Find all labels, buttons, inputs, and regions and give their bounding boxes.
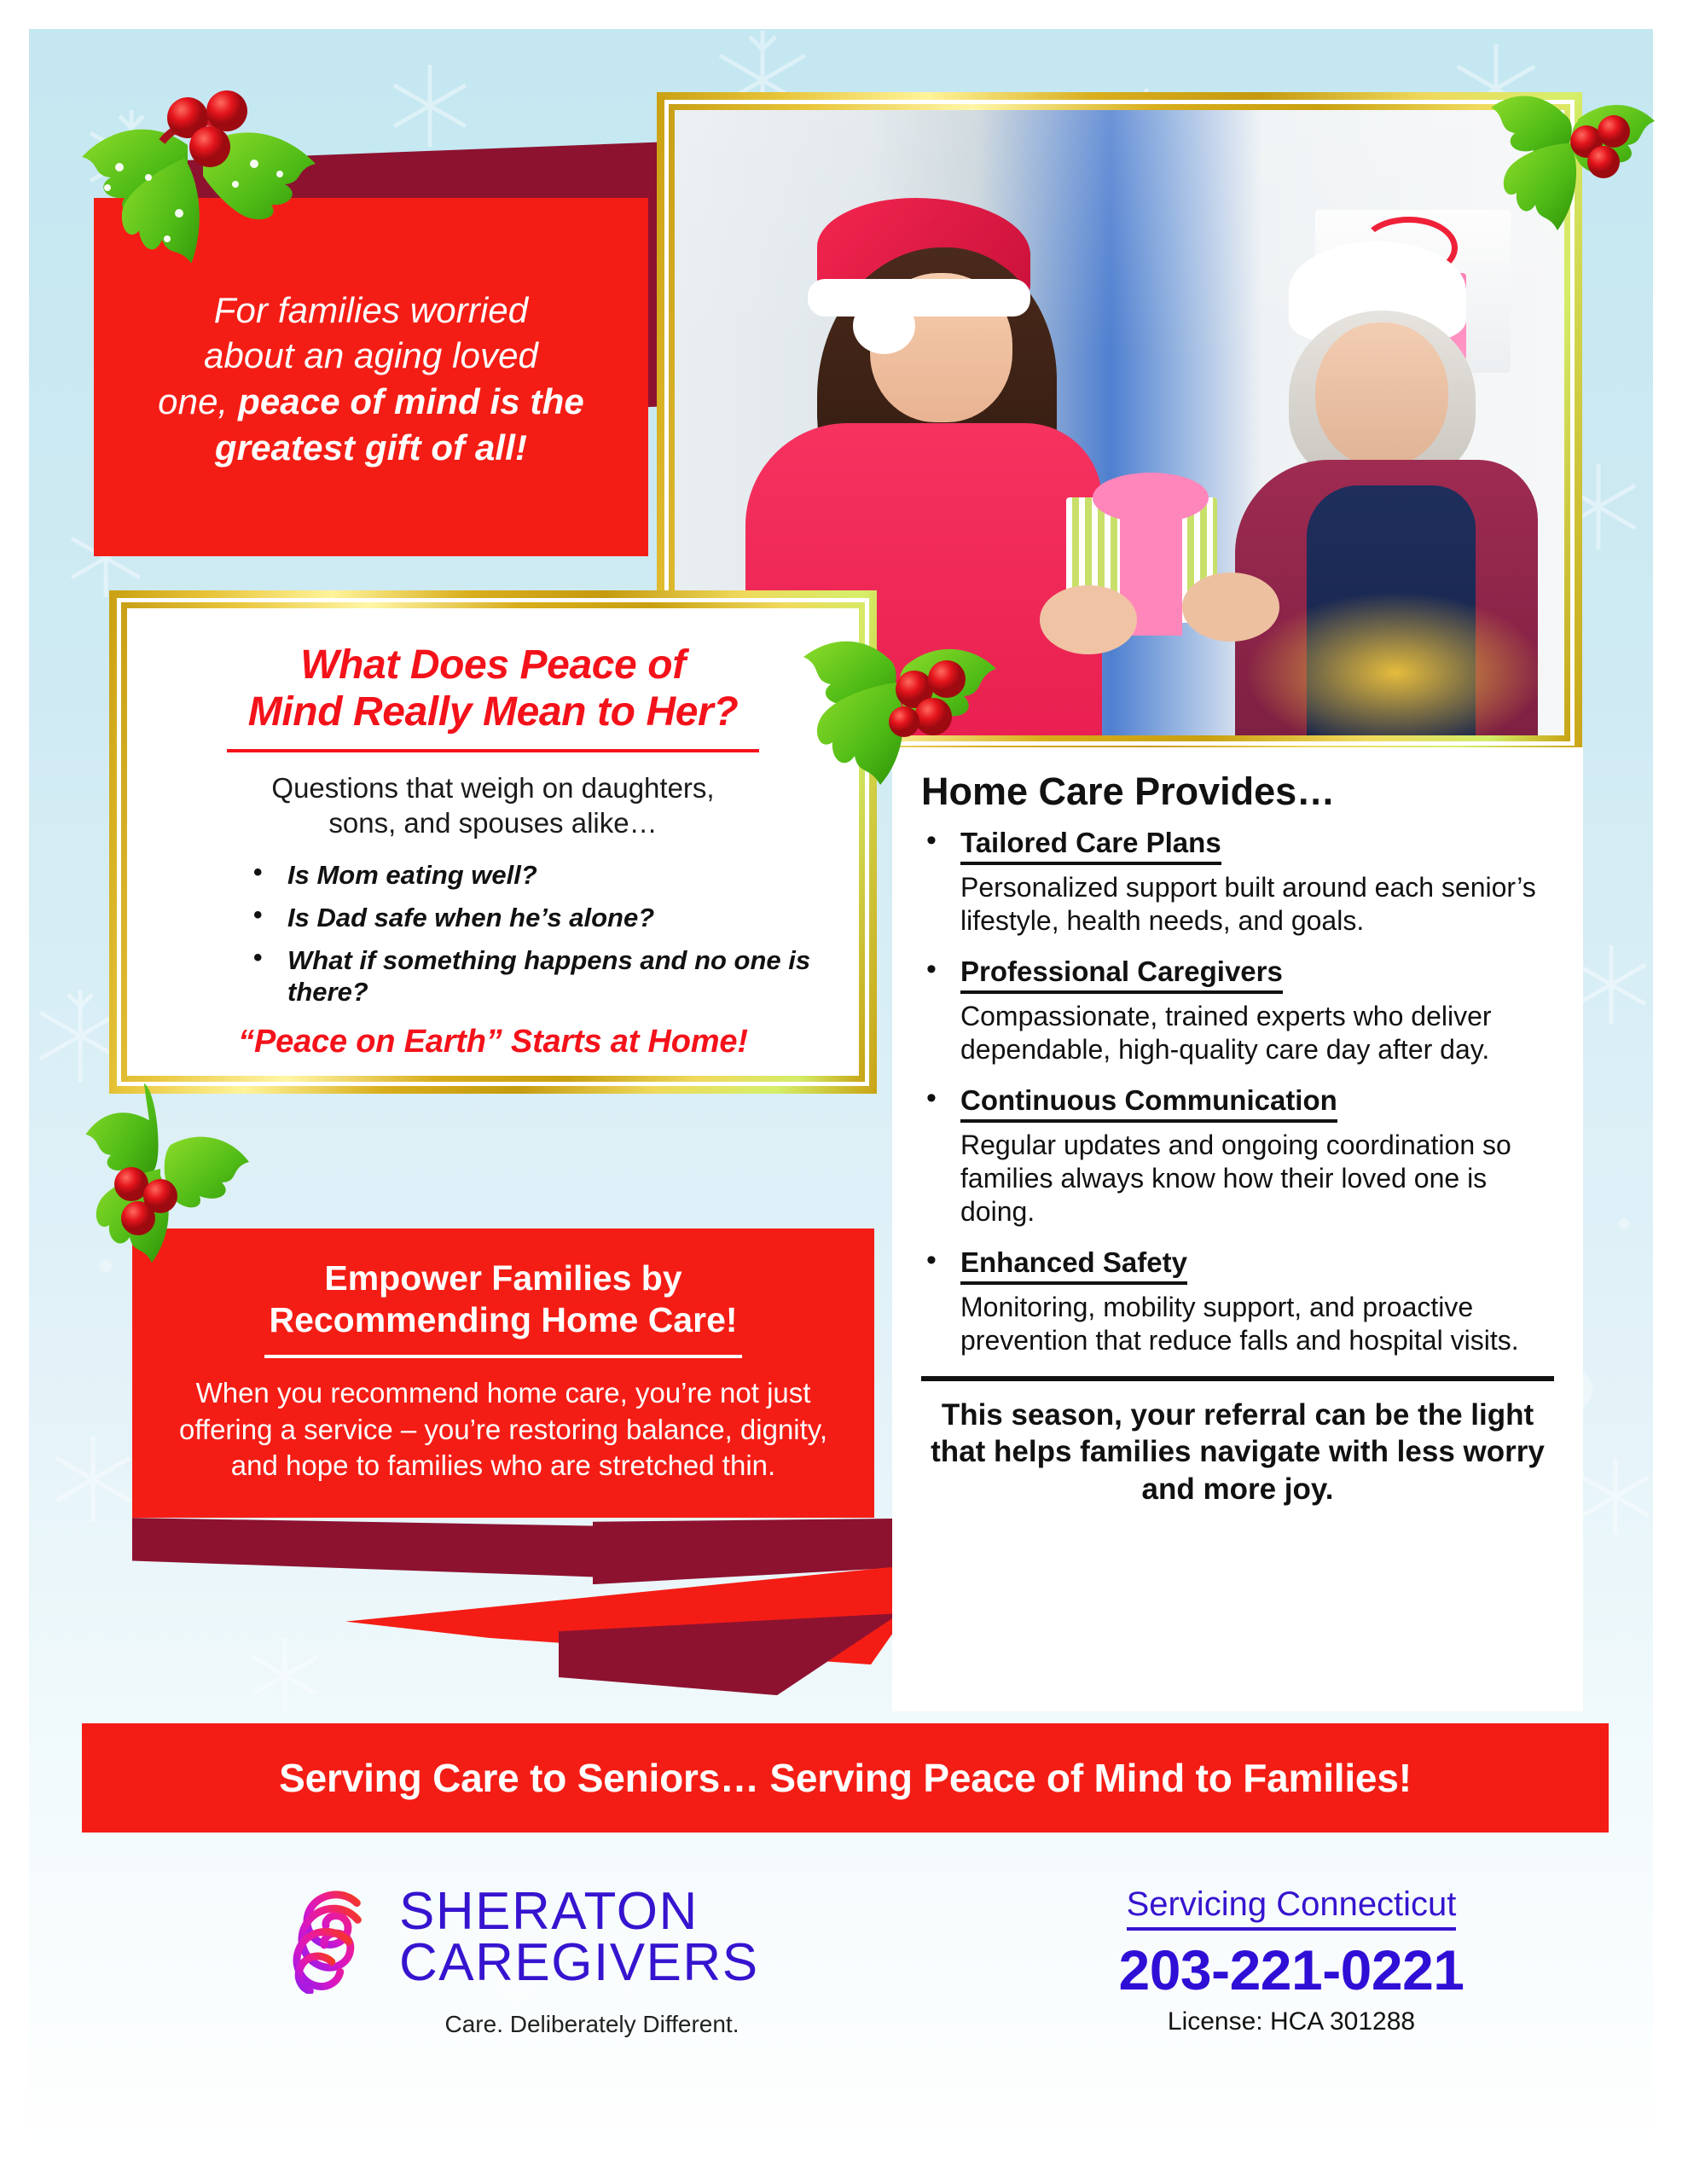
item-heading: Enhanced Safety [960,1247,1187,1285]
hero-banner: For families worried about an aging love… [94,198,648,556]
empower-title-line-1: Empower Families by [324,1258,681,1298]
ribbon-tails [132,1518,874,1680]
item-body: Compassionate, trained experts who deliv… [960,1000,1554,1066]
peace-title-line-2: Mind Really Mean to Her? [248,689,739,735]
peace-of-mind-box: What Does Peace of Mind Really Mean to H… [109,590,877,1094]
empower-divider [264,1355,742,1358]
license-number: License: HCA 301288 [1018,2007,1564,2036]
brand-wordmark: SHERATON CAREGIVERS [399,1886,759,1988]
empower-body: When you recommend home care, you’re not… [171,1375,835,1484]
servicing-area: Servicing Connecticut [1127,1885,1457,1931]
contact-block: Servicing Connecticut 203-221-0221 Licen… [1018,1885,1564,2036]
fingerprint-swirl-icon [276,1881,377,1994]
closing-divider [921,1376,1554,1381]
brand-logo: SHERATON CAREGIVERS Care. Deliberately D… [276,1881,873,2038]
item-heading: Continuous Communication [960,1085,1337,1123]
item-body: Personalized support built around each s… [960,871,1554,938]
hero-line-2: about an aging loved [204,335,538,375]
home-care-list: Tailored Care Plans Personalized support… [921,828,1554,1357]
hero-banner-text: For families worried about an aging love… [158,288,584,471]
brand-line-1: SHERATON [399,1886,759,1937]
hero-line-4-bold: greatest gift of all! [215,427,527,468]
list-item: Enhanced Safety Monitoring, mobility sup… [921,1247,1554,1357]
brand-tagline: Care. Deliberately Different. [310,2011,873,2038]
peace-on-earth-line: “Peace on Earth” Starts at Home! [168,1024,818,1060]
footer: SHERATON CAREGIVERS Care. Deliberately D… [29,1843,1653,2150]
peace-title-line-1: What Does Peace of [300,642,686,688]
tagline-text: Serving Care to Seniors… Serving Peace o… [279,1755,1412,1801]
tagline-banner: Serving Care to Seniors… Serving Peace o… [82,1723,1609,1833]
question-list: Is Mom eating well? Is Dad safe when he’… [168,859,818,1008]
peace-subtitle-line-1: Questions that weigh on daughters, [271,772,714,804]
home-care-title: Home Care Provides… [921,770,1554,814]
item-body: Regular updates and ongoing coordination… [960,1129,1554,1228]
hero-line-3-bold: peace of mind is the [238,381,584,421]
list-item: Continuous Communication Regular updates… [921,1085,1554,1228]
list-item: What if something happens and no one is … [253,944,818,1009]
item-body: Monitoring, mobility support, and proact… [960,1291,1554,1357]
empower-title: Empower Families by Recommending Home Ca… [171,1258,835,1341]
peace-subtitle-line-2: sons, and spouses alike… [328,807,657,839]
empower-title-line-2: Recommending Home Care! [269,1300,737,1339]
item-heading: Tailored Care Plans [960,828,1221,865]
item-heading: Professional Caregivers [960,956,1283,994]
closing-statement: This season, your referral can be the li… [921,1397,1554,1507]
title-divider [227,749,760,752]
empower-families-ribbon: Empower Families by Recommending Home Ca… [132,1228,874,1680]
hero-line-1: For families worried [214,290,528,330]
list-item: Professional Caregivers Compassionate, t… [921,956,1554,1066]
phone-number[interactable]: 203-221-0221 [1018,1937,1564,2002]
list-item: Is Mom eating well? [253,859,818,892]
home-care-panel: Home Care Provides… Tailored Care Plans … [892,747,1583,1711]
peace-subtitle: Questions that weigh on daughters, sons,… [168,771,818,840]
list-item: Is Dad safe when he’s alone? [253,902,818,934]
peace-of-mind-title: What Does Peace of Mind Really Mean to H… [168,642,818,735]
list-item: Tailored Care Plans Personalized support… [921,828,1554,938]
hero-line-3-normal: one, [158,381,238,421]
brand-line-2: CAREGIVERS [399,1937,759,1989]
